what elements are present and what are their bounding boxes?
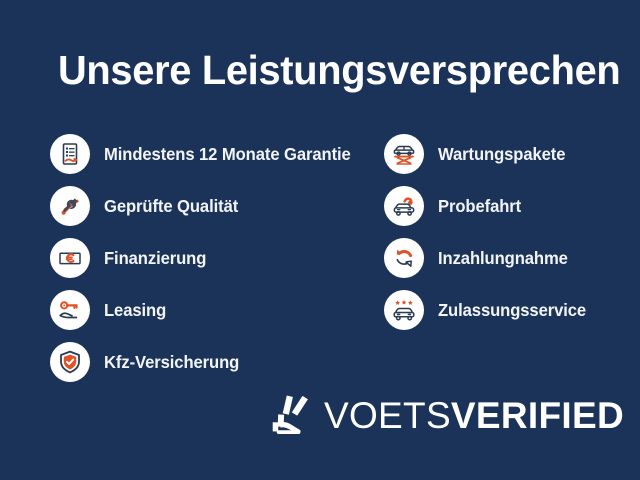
hand-key-icon (50, 290, 90, 330)
benefit-item: Leasing (50, 284, 380, 336)
benefit-item: Finanzierung (50, 232, 380, 284)
brand-name-light: VOETS (324, 395, 451, 436)
benefit-label: Zulassungsservice (438, 300, 586, 321)
benefit-item: Kfz-Versicherung (50, 336, 380, 388)
brand-name-bold: VERIFIED (451, 395, 624, 436)
car-stars-icon (384, 290, 424, 330)
benefit-label: Kfz-Versicherung (104, 352, 239, 373)
car-route-icon (384, 186, 424, 226)
benefit-label: Inzahlungnahme (438, 248, 568, 269)
benefit-item: Mindestens 12 Monate Garantie (50, 128, 380, 180)
benefit-item: Probefahrt (384, 180, 640, 232)
benefit-label: Finanzierung (104, 248, 206, 269)
shield-check-icon (50, 342, 90, 382)
page-title: Unsere Leistungsversprechen (58, 50, 620, 91)
benefit-item: Wartungspakete (384, 128, 640, 180)
benefit-item: Zulassungsservice (384, 284, 640, 336)
car-lift-icon (384, 134, 424, 174)
brand-wordmark: VOETSVERIFIED (324, 397, 624, 434)
promo-banner: Unsere Leistungsversprechen Mindestens 1… (0, 0, 640, 480)
benefit-label: Mindestens 12 Monate Garantie (104, 144, 351, 165)
benefit-item: Geprüfte Qualität (50, 180, 380, 232)
benefit-label: Geprüfte Qualität (104, 196, 238, 217)
voets-v-hand-icon (270, 392, 314, 438)
brand-logo: VOETSVERIFIED (270, 392, 624, 438)
exchange-arrows-icon (384, 238, 424, 278)
euro-banknote-icon (50, 238, 90, 278)
benefit-label: Leasing (104, 300, 166, 321)
benefit-item: Inzahlungnahme (384, 232, 640, 284)
document-signature-icon (50, 134, 90, 174)
wrench-screwdriver-icon (50, 186, 90, 226)
benefits-left-column: Mindestens 12 Monate Garantie Geprüfte Q… (50, 128, 380, 388)
benefit-label: Probefahrt (438, 196, 521, 217)
benefit-label: Wartungspakete (438, 144, 565, 165)
benefits-right-column: Wartungspakete Probefahrt (384, 128, 640, 336)
